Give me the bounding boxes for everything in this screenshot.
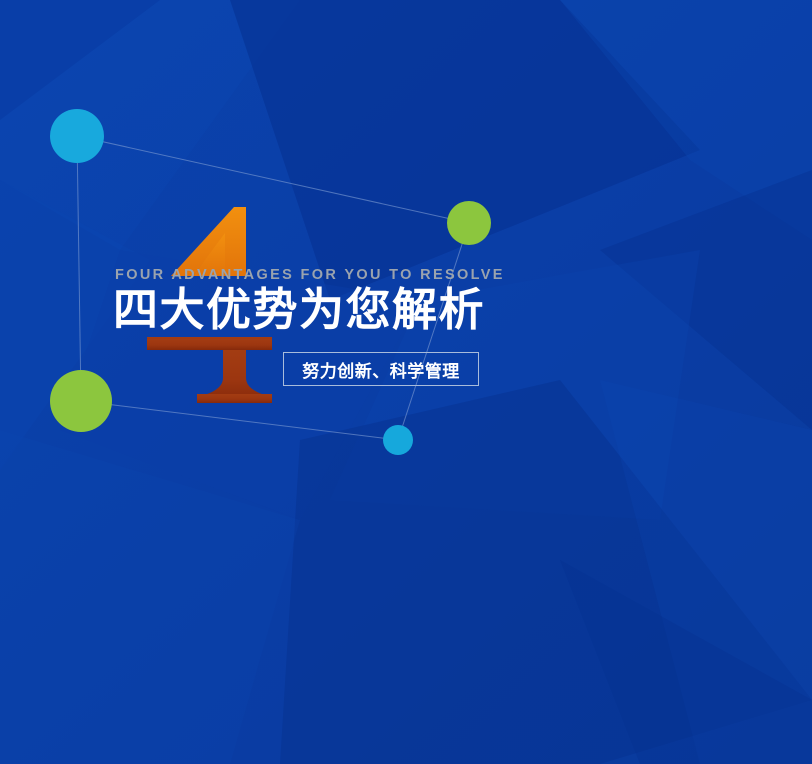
node-green-right [447,201,491,245]
tagline-badge: 努力创新、科学管理 [283,352,479,386]
page-title: 四大优势为您解析 [113,287,505,334]
logo-four-upper [171,207,246,276]
tagline-text: 努力创新、科学管理 [302,357,460,382]
node-green-left [50,370,112,432]
node-cyan-bottom [383,425,413,455]
logo-four-pedestal [147,337,272,403]
banner-hero: FOUR ADVANTAGES FOR YOU TO RESOLVE 四大优势为… [0,0,812,764]
node-cyan-top [50,109,104,163]
eyebrow-text: FOUR ADVANTAGES FOR YOU TO RESOLVE [115,268,505,283]
headline-block: FOUR ADVANTAGES FOR YOU TO RESOLVE 四大优势为… [113,268,505,333]
